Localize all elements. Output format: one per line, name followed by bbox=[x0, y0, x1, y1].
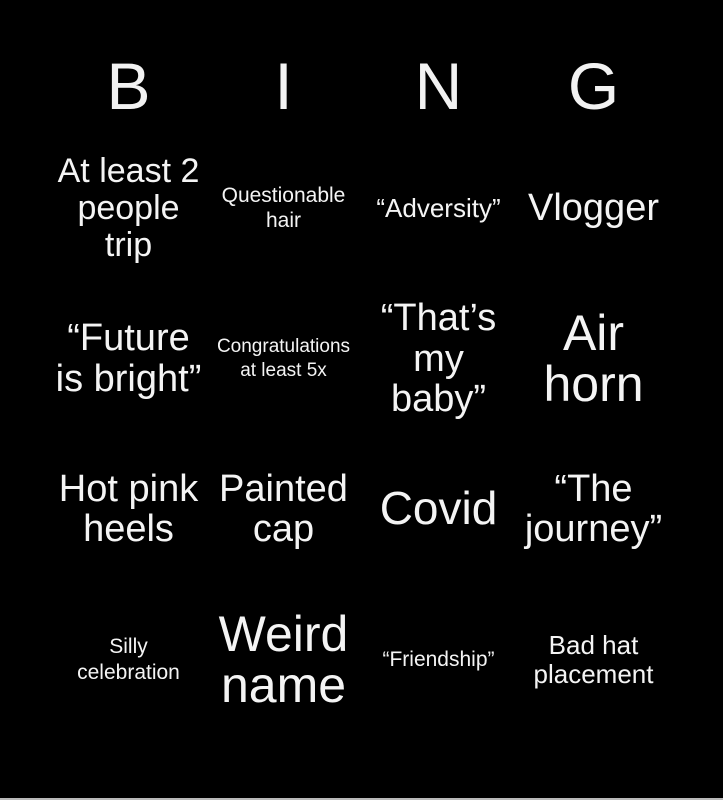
bingo-cell-label: Weird name bbox=[210, 609, 357, 711]
bingo-cell-label: Vlogger bbox=[520, 188, 667, 228]
bingo-cell-r2c4[interactable]: Air horn bbox=[516, 284, 671, 435]
bingo-cell-r2c1[interactable]: “Future is bright” bbox=[51, 284, 206, 435]
bingo-cell-label: Air horn bbox=[520, 308, 667, 410]
bingo-cell-r3c2[interactable]: Painted cap bbox=[206, 434, 361, 585]
bingo-cell-r3c3[interactable]: Covid bbox=[361, 434, 516, 585]
bingo-cell-r4c3[interactable]: “Friendship” bbox=[361, 585, 516, 736]
header-letter-b: B bbox=[51, 40, 206, 132]
bingo-cell-r3c4[interactable]: “The journey” bbox=[516, 434, 671, 585]
header-letter-i: I bbox=[206, 40, 361, 132]
header-letter-g: G bbox=[516, 40, 671, 132]
bingo-cell-label: At least 2 people trip bbox=[55, 153, 202, 263]
bingo-cell-label: Covid bbox=[365, 485, 512, 533]
bingo-cell-label: Painted cap bbox=[210, 469, 357, 550]
bingo-cell-r2c2[interactable]: Congratulations at least 5x bbox=[206, 284, 361, 435]
bingo-cell-label: Questionable hair bbox=[210, 183, 357, 234]
bingo-header-row: B I N G bbox=[51, 40, 671, 132]
bingo-cell-r4c2[interactable]: Weird name bbox=[206, 585, 361, 736]
bingo-cell-r2c3[interactable]: “That’s my baby” bbox=[361, 284, 516, 435]
bingo-card: B I N G At least 2 people trip Questiona… bbox=[0, 0, 723, 800]
bingo-cell-label: “That’s my baby” bbox=[365, 298, 512, 419]
bingo-cell-label: Hot pink heels bbox=[55, 469, 202, 550]
bingo-cell-r1c2[interactable]: Questionable hair bbox=[206, 133, 361, 284]
bingo-cell-label: “Friendship” bbox=[365, 647, 512, 673]
header-letter-n: N bbox=[361, 40, 516, 132]
bingo-cell-r4c4[interactable]: Bad hat placement bbox=[516, 585, 671, 736]
bingo-cell-label: Congratulations at least 5x bbox=[210, 335, 357, 383]
bingo-cell-r1c4[interactable]: Vlogger bbox=[516, 133, 671, 284]
bingo-cell-label: “Future is bright” bbox=[55, 318, 202, 399]
bingo-cell-r1c3[interactable]: “Adversity” bbox=[361, 133, 516, 284]
bingo-cell-r4c1[interactable]: Silly celebration bbox=[51, 585, 206, 736]
bingo-cell-label: “Adversity” bbox=[365, 194, 512, 223]
bingo-cell-label: Bad hat placement bbox=[520, 631, 667, 689]
bingo-cell-label: “The journey” bbox=[520, 469, 667, 550]
bingo-grid: At least 2 people trip Questionable hair… bbox=[51, 133, 671, 735]
bingo-cell-r3c1[interactable]: Hot pink heels bbox=[51, 434, 206, 585]
bingo-cell-r1c1[interactable]: At least 2 people trip bbox=[51, 133, 206, 284]
bingo-cell-label: Silly celebration bbox=[55, 634, 202, 685]
